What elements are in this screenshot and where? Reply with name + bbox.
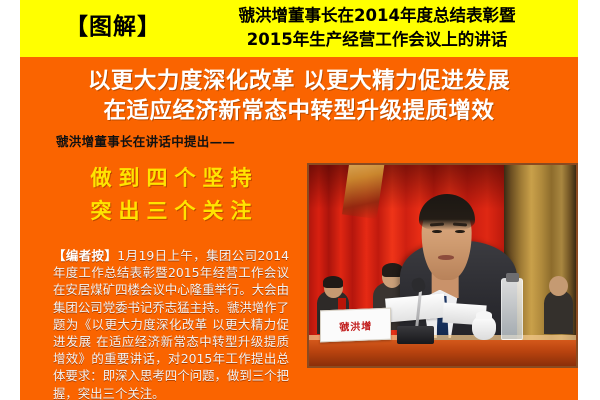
speaker-nameplate: 虢洪增: [320, 307, 391, 342]
photo-inner: 虢洪增: [309, 165, 576, 366]
editor-note-mark: 【编者按】: [53, 248, 117, 263]
conference-desk: [309, 340, 576, 366]
teacup-lid: [476, 311, 492, 319]
curtain-shadow: [309, 165, 507, 209]
water-bottle: [501, 278, 523, 340]
body-paragraph: 【编者按】1月19日上午，集团公司2014年度工作总结表彰暨2015年经营工作会…: [53, 247, 289, 400]
headline-line-2: 在适应经济新常态中转型升级提质增效: [30, 96, 568, 126]
main-headline: 以更大力度深化改革 以更大精力促进发展 在适应经济新常态中转型升级提质增效: [30, 66, 568, 126]
water-bottle-cap: [506, 273, 519, 282]
header-tag-label: 【图解】: [38, 8, 188, 46]
slogan-item-2: 突出三个关注: [46, 195, 296, 228]
background-attendee-3-head: [549, 276, 568, 296]
slogan-list: 做到四个坚持 突出三个关注: [46, 162, 296, 228]
speaker-photo: 虢洪增: [307, 163, 578, 368]
microphone-base: [397, 326, 434, 344]
header-title: 虢洪增董事长在2014年度总结表彰暨 2015年生产经营工作会议上的讲话: [182, 4, 572, 52]
headline-line-1: 以更大力度深化改革 以更大精力促进发展: [30, 66, 568, 96]
leadin-text: 虢洪增董事长在讲话中提出——: [56, 131, 235, 150]
background-attendee-3: [544, 290, 573, 334]
background-attendee-1-hair: [323, 276, 343, 288]
header-band: 【图解】 虢洪增董事长在2014年度总结表彰暨 2015年生产经营工作会议上的讲…: [20, 0, 578, 57]
speaker-nameplate-text: 虢洪增: [339, 317, 372, 333]
header-title-line-1: 虢洪增董事长在2014年度总结表彰暨: [182, 4, 572, 28]
slogan-item-1: 做到四个坚持: [46, 162, 296, 195]
poster-container: 【图解】 虢洪增董事长在2014年度总结表彰暨 2015年生产经营工作会议上的讲…: [20, 0, 578, 400]
teacup: [472, 316, 496, 340]
header-title-line-2: 2015年生产经营工作会议上的讲话: [182, 28, 572, 52]
body-paragraph-text: 1月19日上午，集团公司2014年度工作总结表彰暨2015年经营工作会议在安居煤…: [53, 248, 289, 400]
